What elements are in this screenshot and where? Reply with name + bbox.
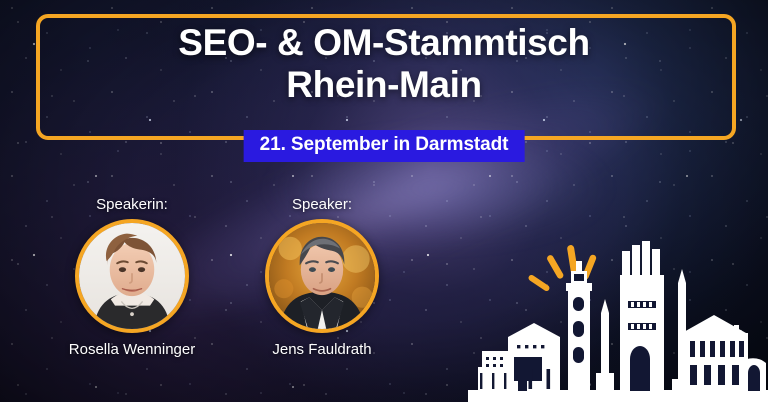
darmstadt-skyline-icon	[468, 227, 768, 402]
speaker-role-label-1: Speakerin:	[52, 196, 212, 213]
speaker-name-2: Jens Fauldrath	[242, 341, 402, 358]
speaker-portrait-icon-2	[265, 219, 379, 333]
speaker-portrait-icon-1	[75, 219, 189, 333]
speaker-card-1: Speakerin:	[52, 196, 212, 358]
speaker-name-1: Rosella Wenninger	[52, 341, 212, 358]
event-banner: SEO- & OM-Stammtisch Rhein-Main 21. Sept…	[0, 0, 768, 402]
speaker-role-label-2: Speaker:	[242, 196, 402, 213]
speakers-section: Speakerin:	[52, 196, 402, 358]
event-date-badge: 21. September in Darmstadt	[244, 130, 525, 162]
title-frame-border	[36, 14, 736, 140]
speaker-card-2: Speaker:	[242, 196, 402, 358]
